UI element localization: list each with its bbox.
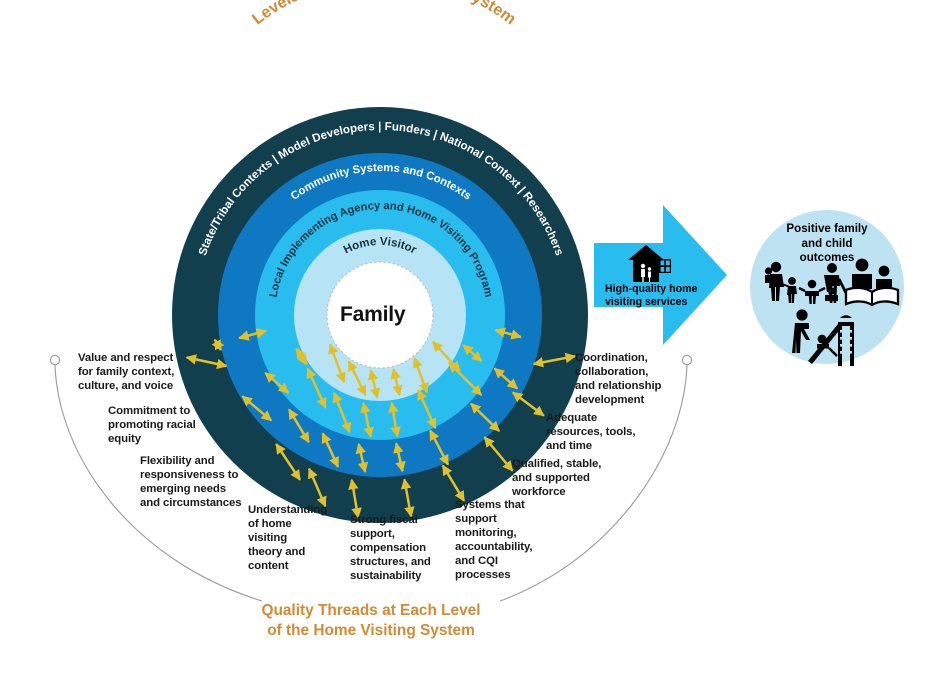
family-center-label: Family bbox=[340, 303, 405, 327]
flow-arrow-group bbox=[594, 205, 727, 345]
quality-thread-coordination: Coordination, collaboration, and relatio… bbox=[575, 352, 661, 408]
quality-thread-adequate-resources: Adequate resources, tools, and time bbox=[546, 412, 635, 454]
flow-arrow-label: High-quality home visiting services bbox=[605, 283, 697, 309]
quality-thread-qualified-workforce: Qualified, stable, and supported workfor… bbox=[512, 458, 601, 500]
outcome-title: Positive family and child outcomes bbox=[747, 222, 907, 266]
quality-thread-racial-equity: Commitment to promoting racial equity bbox=[108, 405, 196, 447]
quality-thread-understanding-theory: Understanding of home visiting theory an… bbox=[248, 504, 327, 574]
home-visiting-system-diagram: Levels of the Home Visiting System State… bbox=[0, 0, 943, 687]
flow-arrow-shape bbox=[594, 205, 727, 345]
bottom-caption: Quality Threads at Each Level of the Hom… bbox=[161, 601, 581, 641]
leader-terminal-right bbox=[682, 355, 691, 364]
quality-thread-flexibility: Flexibility and responsiveness to emergi… bbox=[140, 455, 242, 511]
diagram-canvas: Levels of the Home Visiting System State… bbox=[0, 0, 943, 687]
quality-thread-monitoring-systems: Systems that support monitoring, account… bbox=[455, 499, 532, 582]
leader-terminal-left bbox=[50, 355, 59, 364]
quality-thread-value-respect: Value and respect for family context, cu… bbox=[78, 352, 174, 394]
diagram-title-curved: Levels of the Home Visiting System bbox=[249, 0, 519, 28]
quality-thread-fiscal-support: Strong fiscal support, compensation stru… bbox=[350, 514, 431, 584]
